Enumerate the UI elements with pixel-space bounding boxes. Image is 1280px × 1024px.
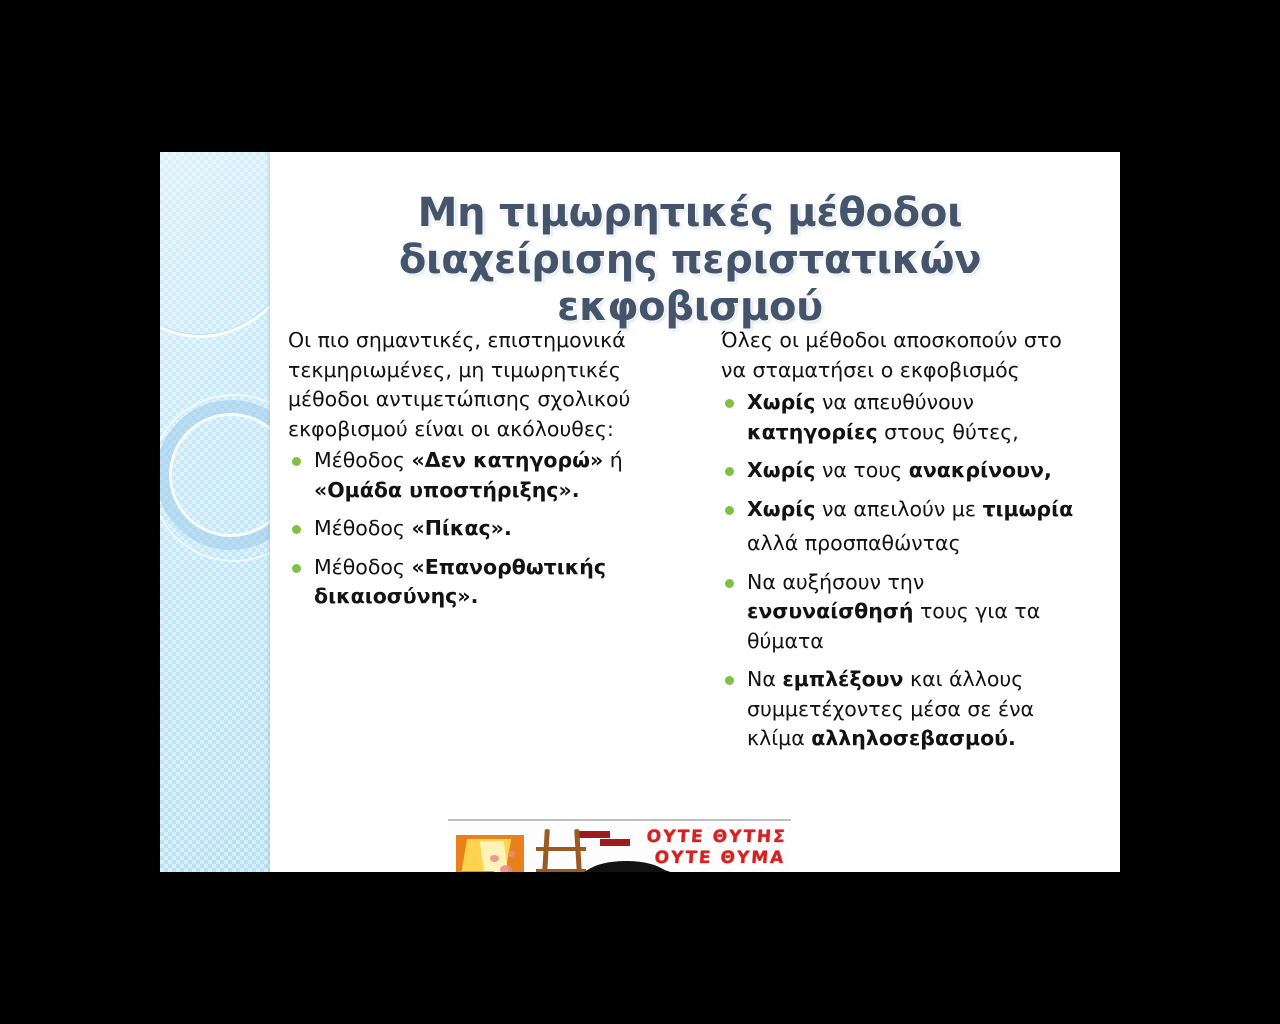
ladder-rung: [536, 847, 586, 851]
ladder-rung: [536, 869, 586, 872]
left-intro-paragraph: Οι πιο σημαντικές, επιστημονικά τεκμηριω…: [288, 326, 650, 444]
anti-bullying-cartoon-image: ΟΥΤΕ ΘΥΤΗΣ ΟΥΤΕ ΘΥΜΑ ♡: [448, 819, 791, 872]
bullet-text-bold3: αλληλοσεβασμού.: [811, 726, 1016, 750]
bullet-text-mid: αλλά προσπαθώντας: [747, 531, 961, 555]
paint-splatter: [508, 851, 515, 857]
bullet-text-mid: ή: [603, 448, 623, 472]
band-edge-shadow: [266, 152, 270, 872]
bullet-text-mid: να τους: [815, 458, 908, 482]
bullet-text-prefix: Μέθοδος: [314, 448, 412, 472]
bullet-text-suffix: .: [471, 584, 479, 608]
bullet-text-bold2: ανακρίνουν,: [909, 458, 1052, 482]
panel-layer-4: [458, 871, 494, 872]
list-item-continuation: αλλά προσπαθώντας: [721, 529, 1081, 559]
bullet-text-suffix: .: [572, 478, 580, 502]
bullet-text-bold: Χωρίς: [747, 497, 815, 521]
caption-line-2: ΟΥΤΕ ΘΥΜΑ: [585, 848, 786, 869]
cartoon-ladder: [530, 829, 588, 872]
right-intro-paragraph: Όλες οι μέθοδοι αποσκοπούν στο να σταματ…: [721, 326, 1081, 385]
paint-splatter: [500, 865, 512, 872]
bullet-text-mid: Να αυξήσουν την: [747, 570, 924, 594]
bullet-text-bold2: κατηγορίες: [747, 420, 878, 444]
bullet-text-suffix: .: [504, 516, 512, 540]
list-item: Μέθοδος «Πίκας».: [288, 514, 650, 544]
bullet-text-bold2: τιμωρία: [982, 497, 1073, 521]
bullet-text-bold: Χωρίς: [747, 458, 815, 482]
bullet-text-bold: «Δεν κατηγορώ»: [412, 448, 604, 472]
list-item: Μέθοδος «Δεν κατηγορώ» ή «Ομάδα υποστήρι…: [288, 446, 650, 505]
cartoon-caption: ΟΥΤΕ ΘΥΤΗΣ ΟΥΤΕ ΘΥΜΑ: [585, 827, 788, 868]
caption-line-1: ΟΥΤΕ ΘΥΤΗΣ: [586, 827, 787, 848]
bullet-text-bold2: ενσυναίσθησή: [747, 599, 913, 623]
bullet-text-mid: Να: [747, 667, 782, 691]
list-item: Χωρίς να απευθύνουν κατηγορίες στους θύτ…: [721, 388, 1081, 447]
bullet-text-prefix: Μέθοδος: [314, 555, 412, 579]
bullet-text-bold2: «Ομάδα υποστήριξης»: [314, 478, 572, 502]
bullet-text-prefix: Μέθοδος: [314, 516, 412, 540]
list-item: Μέθοδος «Επανορθωτικής δικαιοσύνης».: [288, 553, 650, 612]
bullet-text-bold: «Πίκας»: [412, 516, 504, 540]
right-content-column: Όλες οι μέθοδοι αποσκοπούν στο να σταματ…: [721, 326, 1081, 763]
bullet-text-suffix: στους θύτες,: [878, 420, 1019, 444]
bullet-text-bold: Χωρίς: [747, 390, 815, 414]
slide-decorative-band: [160, 152, 270, 872]
list-item: Χωρίς να απειλούν με τιμωρία: [721, 495, 1081, 525]
bullet-text-mid: να απευθύνουν: [815, 390, 974, 414]
list-item: Να αυξήσουν την ενσυναίσθησή τους για τα…: [721, 568, 1081, 657]
bullet-text-mid: να απειλούν με: [815, 497, 982, 521]
left-content-column: Οι πιο σημαντικές, επιστημονικά τεκμηριω…: [288, 326, 650, 621]
presentation-slide: Μη τιμωρητικές μέθοδοι διαχείρισης περισ…: [160, 152, 1120, 872]
list-item: Χωρίς να τους ανακρίνουν,: [721, 456, 1081, 486]
page-title: Μη τιμωρητικές μέθοδοι διαχείρισης περισ…: [290, 190, 1090, 332]
band-swoosh-arc: [160, 152, 270, 338]
right-bullet-list: Χωρίς να απευθύνουν κατηγορίες στους θύτ…: [721, 388, 1081, 754]
bullet-text-bold2: εμπλέξουν: [782, 667, 903, 691]
left-bullet-list: Μέθοδος «Δεν κατηγορώ» ή «Ομάδα υποστήρι…: [288, 446, 650, 612]
paint-splatter: [490, 855, 499, 862]
list-item: Να εμπλέξουν και άλλους συμμετέχοντες μέ…: [721, 665, 1081, 754]
